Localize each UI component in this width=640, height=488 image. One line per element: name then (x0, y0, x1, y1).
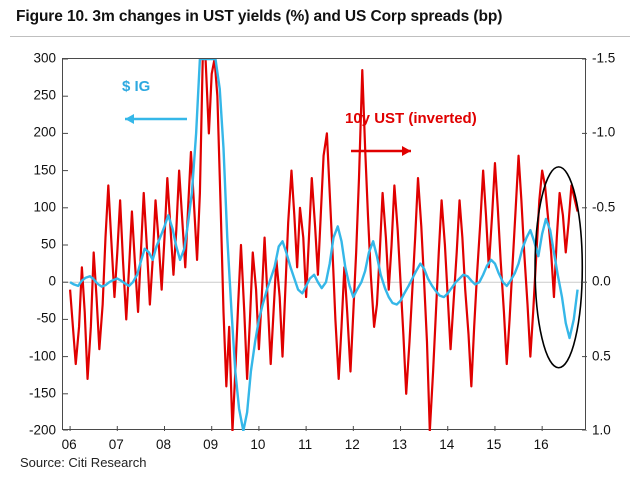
right-axis-tick-1: 0.5 (592, 348, 638, 363)
x-axis-tick-3: 09 (194, 437, 228, 452)
x-axis-tick-7: 13 (383, 437, 417, 452)
right-axis-tick-4: -1.0 (592, 125, 638, 140)
right-axis-tick-2: 0.0 (592, 274, 638, 289)
left-axis-tick-3: -50 (4, 311, 56, 326)
left-axis-tick-1: -150 (4, 385, 56, 400)
left-axis-tick-9: 250 (4, 88, 56, 103)
left-axis-tick-7: 150 (4, 162, 56, 177)
page-title: Figure 10. 3m changes in UST yields (%) … (16, 8, 502, 26)
annotation-ig-label: $ IG (122, 78, 150, 95)
chart-svg (63, 59, 587, 431)
x-axis-tick-2: 08 (146, 437, 180, 452)
arrow-ig-to-left-axis (125, 114, 187, 124)
left-axis-tick-0: -200 (4, 423, 56, 438)
left-axis-tick-2: -100 (4, 348, 56, 363)
x-axis-tick-6: 12 (335, 437, 369, 452)
x-axis-tick-5: 11 (288, 437, 322, 452)
title-divider (10, 36, 630, 37)
x-axis-tick-8: 14 (430, 437, 464, 452)
series-line-ust (70, 59, 577, 431)
right-axis-tick-3: -0.5 (592, 199, 638, 214)
left-axis-tick-5: 50 (4, 237, 56, 252)
annotation-ust-label: 10y UST (inverted) (345, 110, 477, 127)
right-axis-tick-0: 1.0 (592, 423, 638, 438)
source-note: Source: Citi Research (20, 455, 146, 470)
left-axis-tick-10: 300 (4, 51, 56, 66)
x-axis-tick-1: 07 (99, 437, 133, 452)
x-axis-tick-9: 15 (477, 437, 511, 452)
x-axis-tick-0: 06 (52, 437, 86, 452)
x-axis-tick-4: 10 (241, 437, 275, 452)
chart-page: Figure 10. 3m changes in UST yields (%) … (0, 0, 640, 488)
left-axis-tick-8: 200 (4, 125, 56, 140)
left-axis-tick-6: 100 (4, 199, 56, 214)
x-axis-tick-10: 16 (524, 437, 558, 452)
right-axis-tick-5: -1.5 (592, 51, 638, 66)
left-axis-tick-4: 0 (4, 274, 56, 289)
plot-area (62, 58, 586, 430)
